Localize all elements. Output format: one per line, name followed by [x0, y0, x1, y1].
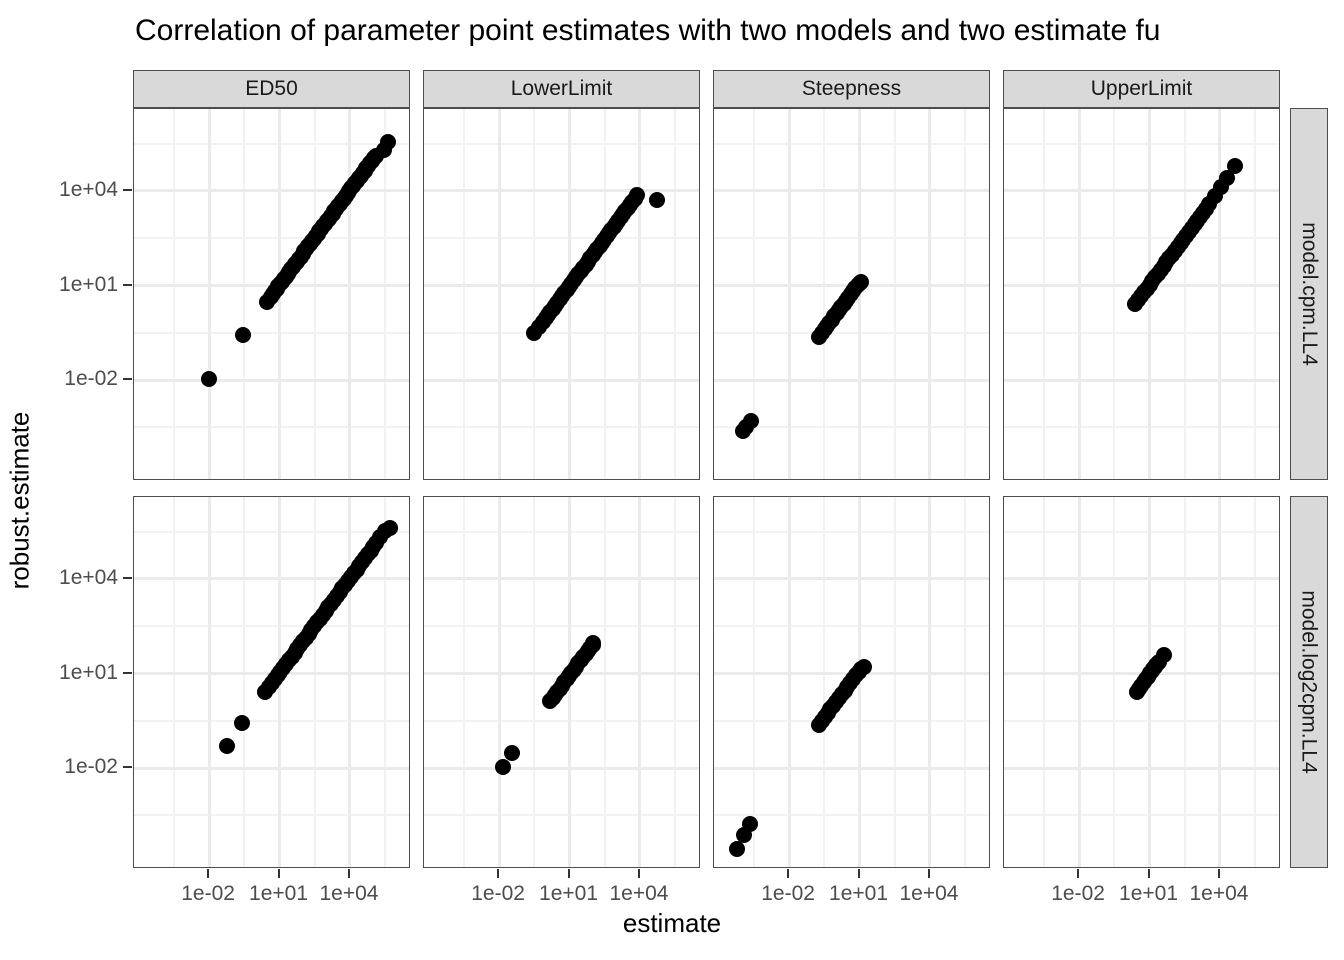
y-axis-tick-label: 1e-02 [3, 755, 118, 779]
gridline-minor-vertical [384, 109, 386, 479]
gridline-minor-horizontal [714, 143, 989, 145]
x-axis-tick [348, 869, 350, 878]
gridline-major-horizontal [714, 577, 989, 580]
gridline-minor-horizontal [714, 814, 989, 816]
gridline-major-vertical [928, 497, 931, 867]
data-point [234, 715, 250, 731]
x-axis-tick [1148, 869, 1150, 878]
gridline-major-vertical [498, 109, 501, 479]
data-point [742, 816, 758, 832]
x-axis-tick [858, 869, 860, 878]
gridline-minor-horizontal [134, 625, 409, 627]
gridline-minor-vertical [823, 497, 825, 867]
facet-strip-label: UpperLimit [1091, 77, 1193, 101]
gridline-major-vertical [348, 497, 351, 867]
x-axis-tick-label: 1e+04 [899, 882, 958, 906]
gridline-minor-vertical [753, 497, 755, 867]
gridline-minor-horizontal [1004, 426, 1279, 428]
gridline-minor-vertical [604, 497, 606, 867]
gridline-minor-horizontal [714, 720, 989, 722]
gridline-minor-horizontal [1004, 814, 1279, 816]
y-axis-tick-label: 1e+01 [3, 273, 118, 297]
gridline-minor-vertical [533, 109, 535, 479]
gridline-minor-vertical [463, 497, 465, 867]
gridline-major-horizontal [424, 577, 699, 580]
gridline-major-vertical [208, 109, 211, 479]
page-title: Correlation of parameter point estimates… [135, 13, 1160, 49]
data-point [380, 134, 396, 150]
data-point [856, 659, 872, 675]
gridline-major-horizontal [714, 767, 989, 770]
x-axis-tick-label: 1e+04 [609, 882, 668, 906]
gridline-major-vertical [788, 497, 791, 867]
x-axis-tick [497, 869, 499, 878]
y-axis-tick [123, 672, 132, 674]
gridline-minor-vertical [314, 109, 316, 479]
gridline-major-horizontal [134, 767, 409, 770]
gridline-major-vertical [638, 109, 641, 479]
gridline-major-horizontal [1004, 767, 1279, 770]
x-axis-tick-label: 1e+01 [1119, 882, 1178, 906]
gridline-major-horizontal [714, 189, 989, 192]
gridline-minor-horizontal [134, 720, 409, 722]
data-point [504, 745, 520, 761]
y-axis-tick [123, 189, 132, 191]
panel-upperlimit-model-log2cpm-ll4 [1003, 496, 1280, 868]
gridline-major-vertical [498, 497, 501, 867]
facet-strip-label: Steepness [802, 77, 901, 101]
panel-steepness-model-log2cpm-ll4 [713, 496, 990, 868]
x-axis-tick [1077, 869, 1079, 878]
gridline-minor-horizontal [714, 332, 989, 334]
gridline-minor-vertical [894, 497, 896, 867]
gridline-minor-horizontal [134, 332, 409, 334]
gridline-minor-vertical [314, 497, 316, 867]
data-point [649, 192, 665, 208]
gridline-major-vertical [1218, 109, 1221, 479]
gridline-minor-vertical [1113, 497, 1115, 867]
x-axis-tick-label: 1e+01 [829, 882, 888, 906]
y-axis-tick-label: 1e+04 [3, 178, 118, 202]
x-axis-tick [1218, 869, 1220, 878]
gridline-major-horizontal [424, 767, 699, 770]
y-axis-tick-label: 1e+04 [3, 566, 118, 590]
gridline-minor-horizontal [1004, 332, 1279, 334]
y-axis-tick [123, 577, 132, 579]
x-axis-tick-label: 1e-02 [471, 882, 525, 906]
gridline-minor-vertical [823, 109, 825, 479]
x-axis-tick-label: 1e-02 [181, 882, 235, 906]
gridline-minor-vertical [243, 109, 245, 479]
gridline-minor-vertical [1113, 109, 1115, 479]
facet-strip-label: LowerLimit [511, 77, 613, 101]
data-point [729, 841, 745, 857]
y-axis-tick [123, 378, 132, 380]
gridline-minor-horizontal [134, 237, 409, 239]
facet-strip-right-model-cpm-ll4: model.cpm.LL4 [1290, 108, 1328, 480]
x-axis-tick [787, 869, 789, 878]
gridline-minor-horizontal [424, 531, 699, 533]
gridline-minor-horizontal [134, 426, 409, 428]
y-axis-tick [123, 284, 132, 286]
gridline-minor-horizontal [1004, 720, 1279, 722]
gridline-major-horizontal [134, 189, 409, 192]
gridline-major-horizontal [134, 379, 409, 382]
data-point [853, 274, 869, 290]
gridline-major-vertical [788, 109, 791, 479]
x-axis-tick [207, 869, 209, 878]
panel-ed50-model-log2cpm-ll4 [133, 496, 410, 868]
data-point [495, 759, 511, 775]
gridline-minor-vertical [1254, 497, 1256, 867]
data-point [1156, 647, 1172, 663]
y-axis-tick [123, 766, 132, 768]
y-axis-tick-label: 1e+01 [3, 661, 118, 685]
gridline-minor-vertical [173, 497, 175, 867]
gridline-major-horizontal [424, 379, 699, 382]
gridline-minor-vertical [533, 497, 535, 867]
facet-strip-top-upperlimit: UpperLimit [1003, 70, 1280, 108]
gridline-minor-vertical [1254, 109, 1256, 479]
gridline-major-vertical [638, 497, 641, 867]
panel-ed50-model-cpm-ll4 [133, 108, 410, 480]
gridline-minor-vertical [243, 497, 245, 867]
gridline-major-vertical [1078, 497, 1081, 867]
panel-steepness-model-cpm-ll4 [713, 108, 990, 480]
gridline-major-vertical [928, 109, 931, 479]
gridline-minor-vertical [674, 109, 676, 479]
facet-strip-label: ED50 [245, 77, 298, 101]
gridline-major-vertical [348, 109, 351, 479]
x-axis-tick-label: 1e+04 [319, 882, 378, 906]
gridline-major-horizontal [1004, 577, 1279, 580]
gridline-minor-horizontal [1004, 237, 1279, 239]
gridline-minor-vertical [1043, 497, 1045, 867]
x-axis-title: estimate [0, 908, 1344, 939]
gridline-major-vertical [1218, 497, 1221, 867]
data-point [235, 327, 251, 343]
gridline-minor-vertical [1184, 109, 1186, 479]
data-point [219, 738, 235, 754]
gridline-minor-horizontal [1004, 143, 1279, 145]
y-axis-title: robust.estimate [5, 371, 36, 631]
gridline-minor-horizontal [424, 426, 699, 428]
gridline-minor-horizontal [424, 720, 699, 722]
x-axis-tick-label: 1e+01 [249, 882, 308, 906]
gridline-minor-vertical [604, 109, 606, 479]
facet-strip-top-lowerlimit: LowerLimit [423, 70, 700, 108]
gridline-minor-vertical [894, 109, 896, 479]
gridline-major-horizontal [714, 379, 989, 382]
facet-strip-label: model.log2cpm.LL4 [1297, 590, 1321, 773]
gridline-minor-vertical [173, 109, 175, 479]
gridline-minor-horizontal [424, 814, 699, 816]
panel-lowerlimit-model-log2cpm-ll4 [423, 496, 700, 868]
gridline-major-vertical [208, 497, 211, 867]
x-axis-tick [278, 869, 280, 878]
gridline-minor-vertical [964, 109, 966, 479]
gridline-major-vertical [1078, 109, 1081, 479]
gridline-minor-vertical [384, 497, 386, 867]
gridline-minor-horizontal [134, 143, 409, 145]
gridline-major-horizontal [1004, 189, 1279, 192]
gridline-minor-horizontal [1004, 625, 1279, 627]
gridline-minor-vertical [1184, 497, 1186, 867]
gridline-minor-vertical [463, 109, 465, 479]
x-axis-tick [928, 869, 930, 878]
gridline-major-horizontal [134, 577, 409, 580]
x-axis-tick-label: 1e+01 [539, 882, 598, 906]
x-axis-tick [638, 869, 640, 878]
facet-strip-top-ed50: ED50 [133, 70, 410, 108]
gridline-minor-horizontal [424, 625, 699, 627]
x-axis-tick-label: 1e+04 [1189, 882, 1248, 906]
gridline-minor-vertical [674, 497, 676, 867]
facet-strip-right-model-log2cpm-ll4: model.log2cpm.LL4 [1290, 496, 1328, 868]
gridline-minor-horizontal [1004, 531, 1279, 533]
gridline-minor-horizontal [134, 531, 409, 533]
x-axis-tick [568, 869, 570, 878]
gridline-minor-vertical [1043, 109, 1045, 479]
x-axis-tick-label: 1e-02 [1051, 882, 1105, 906]
gridline-minor-horizontal [714, 625, 989, 627]
panel-upperlimit-model-cpm-ll4 [1003, 108, 1280, 480]
data-point [201, 371, 217, 387]
y-axis-tick-label: 1e-02 [3, 367, 118, 391]
gridline-minor-horizontal [424, 143, 699, 145]
gridline-minor-horizontal [424, 237, 699, 239]
gridline-minor-horizontal [134, 814, 409, 816]
facet-strip-label: model.cpm.LL4 [1297, 222, 1321, 366]
gridline-major-horizontal [1004, 379, 1279, 382]
data-point [382, 520, 398, 536]
gridline-minor-horizontal [424, 332, 699, 334]
x-axis-tick-label: 1e-02 [761, 882, 815, 906]
gridline-minor-vertical [964, 497, 966, 867]
facet-strip-top-steepness: Steepness [713, 70, 990, 108]
panel-lowerlimit-model-cpm-ll4 [423, 108, 700, 480]
gridline-minor-horizontal [714, 237, 989, 239]
plot-root: Correlation of parameter point estimates… [0, 0, 1344, 960]
gridline-minor-horizontal [714, 531, 989, 533]
data-point [1227, 158, 1243, 174]
